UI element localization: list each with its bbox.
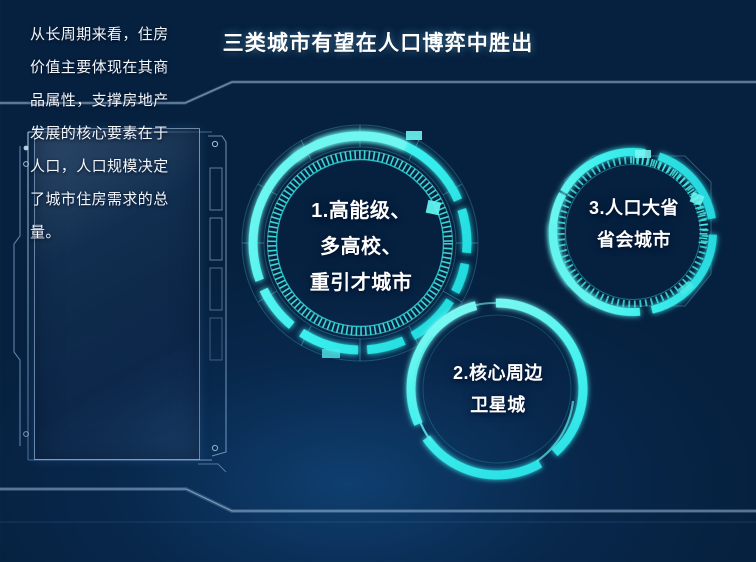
footer-diagonal-accent xyxy=(0,482,756,528)
infographic-canvas: 三类城市有望在人口博弈中胜出 xyxy=(0,0,756,562)
circle-group-2[interactable] xyxy=(397,289,597,489)
circle-2-rings xyxy=(397,289,597,489)
page-title: 三类城市有望在人口博弈中胜出 xyxy=(0,27,756,57)
